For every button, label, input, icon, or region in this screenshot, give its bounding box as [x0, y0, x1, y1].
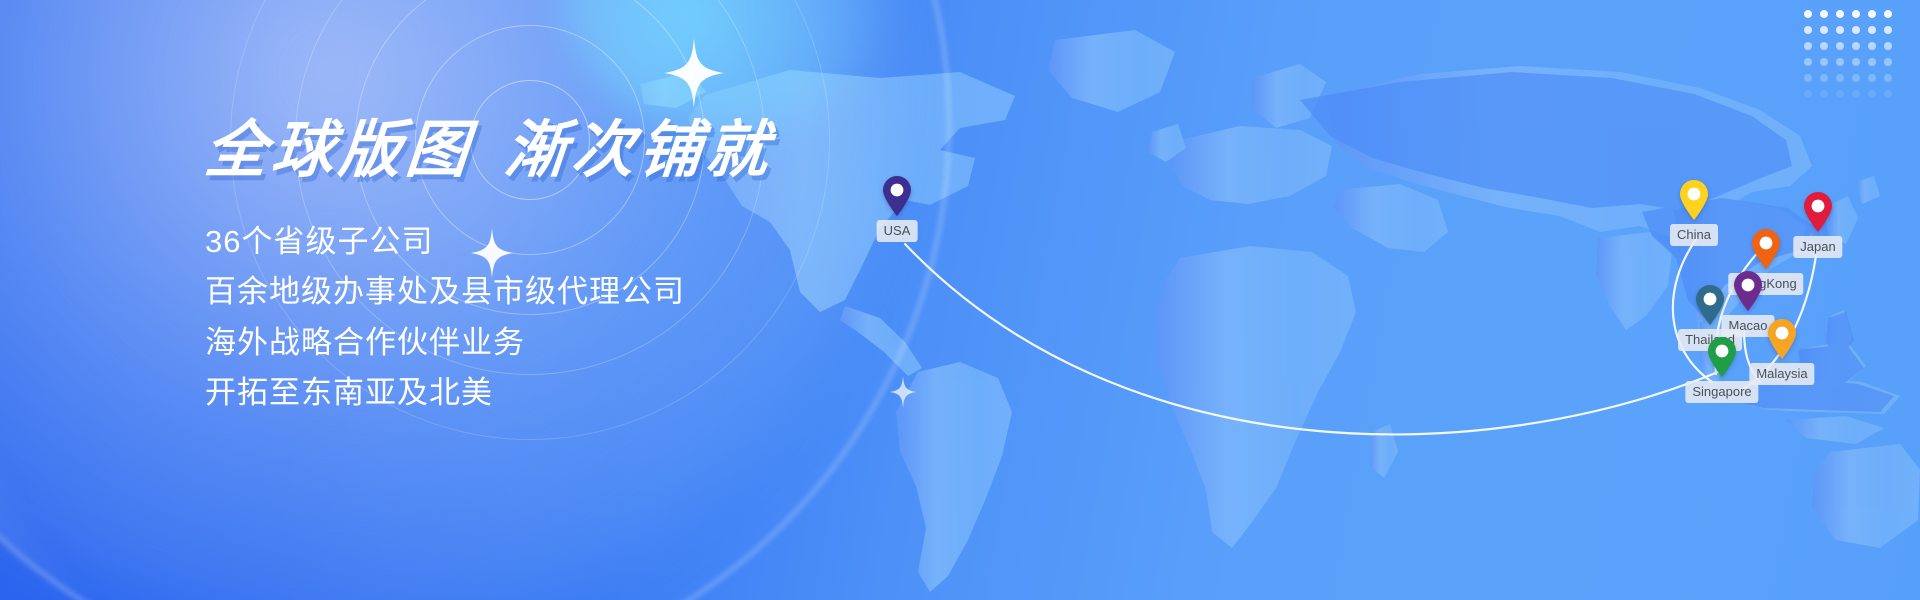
headline-left: 全球版图 [202, 116, 476, 185]
banner-line-2: 百余地级办事处及县市级代理公司 [205, 267, 985, 317]
page-title: 全球版图渐次铺就 [202, 118, 988, 183]
banner-copy: 全球版图渐次铺就 36个省级子公司 百余地级办事处及县市级代理公司 海外战略合作… [205, 118, 985, 418]
global-map-banner: USAChinaJapanHongKongMacaoThailandMalays… [0, 0, 1920, 600]
banner-line-1: 36个省级子公司 [205, 217, 985, 267]
banner-line-4: 开拓至东南亚及北美 [205, 368, 985, 418]
banner-lines: 36个省级子公司 百余地级办事处及县市级代理公司 海外战略合作伙伴业务 开拓至东… [205, 217, 985, 418]
banner-line-3: 海外战略合作伙伴业务 [205, 318, 985, 368]
headline-right: 渐次铺就 [502, 116, 776, 185]
